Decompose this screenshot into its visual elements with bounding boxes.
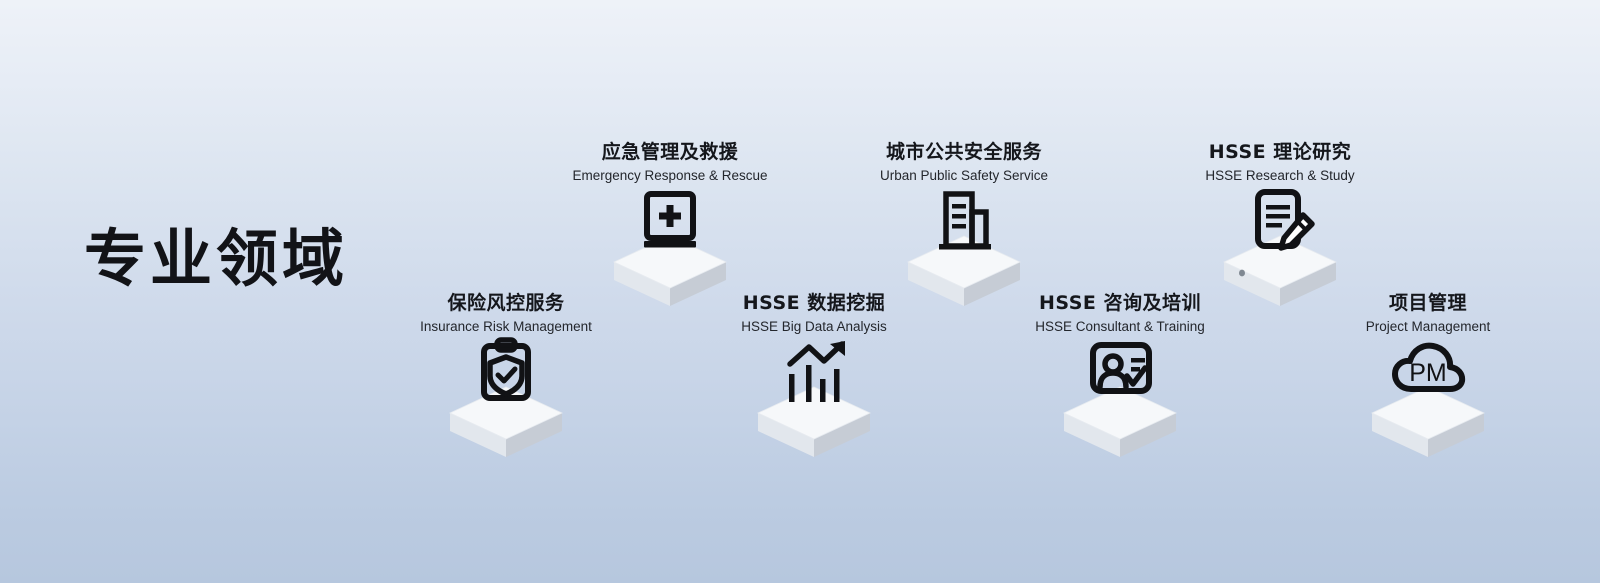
field-tile bbox=[356, 341, 656, 459]
field-tile bbox=[664, 341, 964, 459]
field-labels: HSSE 数据挖掘 HSSE Big Data Analysis bbox=[664, 293, 964, 335]
field-labels: 应急管理及救援 Emergency Response & Rescue bbox=[520, 142, 820, 184]
field-item-hsse-consultant[interactable]: HSSE 咨询及培训 HSSE Consultant & Training bbox=[970, 293, 1270, 459]
field-labels: HSSE 咨询及培训 HSSE Consultant & Training bbox=[970, 293, 1270, 335]
clipboard-shield-check-icon bbox=[467, 337, 545, 415]
field-title-en: Project Management bbox=[1278, 318, 1578, 336]
field-title-cn: 项目管理 bbox=[1278, 293, 1578, 315]
field-title-cn: 应急管理及救援 bbox=[520, 142, 820, 164]
field-labels: 项目管理 Project Management bbox=[1278, 293, 1578, 335]
field-title-cn: 城市公共安全服务 bbox=[814, 142, 1114, 164]
field-labels: HSSE 理论研究 HSSE Research & Study bbox=[1130, 142, 1430, 184]
field-title-cn: HSSE 咨询及培训 bbox=[970, 293, 1270, 315]
professional-fields-banner: 专业领域 应急管理及救援 Emergency Response & Rescue bbox=[0, 0, 1600, 583]
field-item-hsse-big-data[interactable]: HSSE 数据挖掘 HSSE Big Data Analysis bbox=[664, 293, 964, 459]
field-title-en: Urban Public Safety Service bbox=[814, 167, 1114, 185]
first-aid-kit-icon bbox=[631, 186, 709, 264]
field-labels: 保险风控服务 Insurance Risk Management bbox=[356, 293, 656, 335]
field-item-insurance-risk[interactable]: 保险风控服务 Insurance Risk Management bbox=[356, 293, 656, 459]
field-title-en: HSSE Research & Study bbox=[1130, 167, 1430, 185]
field-labels: 城市公共安全服务 Urban Public Safety Service bbox=[814, 142, 1114, 184]
page-title: 专业领域 bbox=[84, 228, 348, 290]
cloud-pm-icon: PM bbox=[1389, 337, 1467, 415]
field-tile: PM bbox=[1278, 341, 1578, 459]
bar-chart-trend-icon bbox=[775, 337, 853, 415]
svg-text:PM: PM bbox=[1409, 359, 1447, 387]
field-item-urban-public-safety[interactable]: 城市公共安全服务 Urban Public Safety Service bbox=[814, 142, 1114, 308]
buildings-icon bbox=[925, 186, 1003, 264]
field-item-project-management[interactable]: 项目管理 Project Management PM bbox=[1278, 293, 1578, 459]
field-item-hsse-research[interactable]: HSSE 理论研究 HSSE Research & Study bbox=[1130, 142, 1430, 308]
field-tile bbox=[520, 190, 820, 308]
field-title-cn: HSSE 理论研究 bbox=[1130, 142, 1430, 164]
field-title-en: HSSE Big Data Analysis bbox=[664, 318, 964, 336]
field-title-en: Insurance Risk Management bbox=[356, 318, 656, 336]
field-tile bbox=[970, 341, 1270, 459]
field-title-cn: HSSE 数据挖掘 bbox=[664, 293, 964, 315]
person-id-card-check-icon bbox=[1081, 337, 1159, 415]
field-tile bbox=[1130, 190, 1430, 308]
document-pencil-icon bbox=[1241, 186, 1319, 264]
field-tile bbox=[814, 190, 1114, 308]
field-title-en: HSSE Consultant & Training bbox=[970, 318, 1270, 336]
field-title-en: Emergency Response & Rescue bbox=[520, 167, 820, 185]
field-title-cn: 保险风控服务 bbox=[356, 293, 656, 315]
field-item-emergency-response[interactable]: 应急管理及救援 Emergency Response & Rescue bbox=[520, 142, 820, 308]
